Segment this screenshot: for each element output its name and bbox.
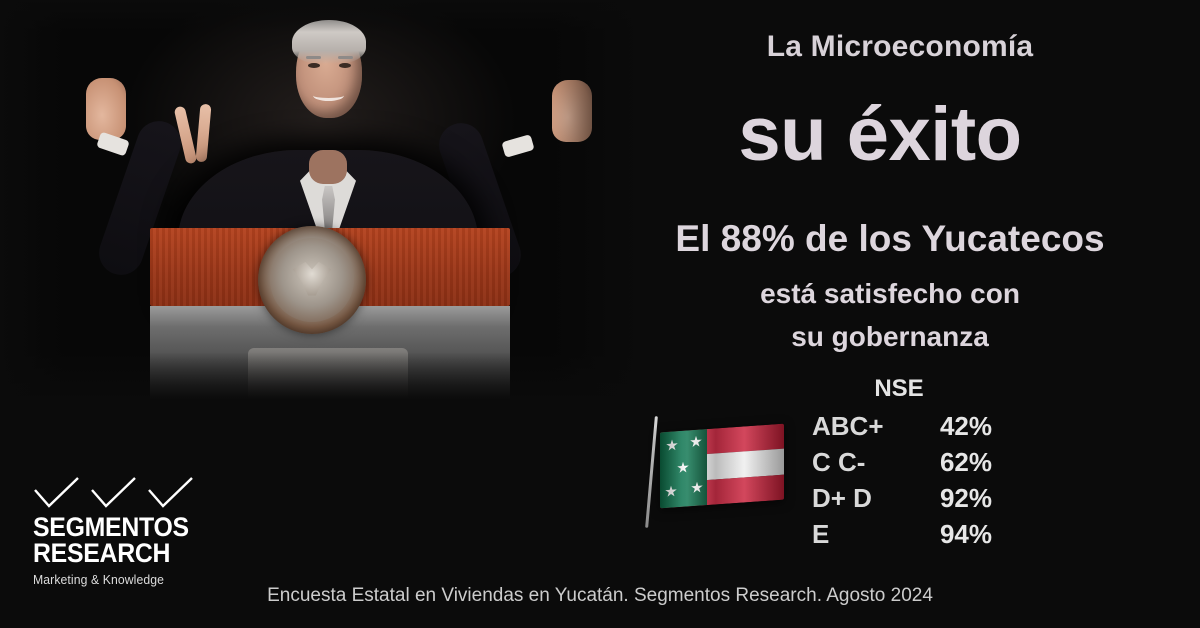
source-caption: Encuesta Estatal en Viviendas en Yucatán… — [0, 585, 1200, 607]
checkmark-icon — [147, 476, 202, 510]
flag-pole — [645, 416, 658, 528]
flag-star — [690, 435, 702, 448]
table-row: D+ D 92% — [812, 483, 992, 514]
nse-row-label: ABC+ — [812, 411, 884, 442]
flag-star — [691, 481, 703, 494]
flag-star — [665, 485, 677, 498]
right-eyebrow — [338, 56, 353, 59]
logo-name-line-1: SEGMENTOS — [33, 514, 189, 540]
left-peace-sign-hand — [86, 78, 126, 140]
stat-main-text: El 88% de los Yucatecos — [620, 218, 1160, 260]
segmentos-research-logo: SEGMENTOS RESEARCH Marketing & Knowledge — [33, 476, 203, 587]
nse-row-label: D+ D — [812, 483, 872, 514]
page-title: su éxito — [620, 95, 1140, 175]
flag-star — [666, 439, 678, 452]
president-at-podium-photo — [0, 0, 640, 400]
flag-green-canton — [660, 429, 707, 508]
table-row: C C- 62% — [812, 447, 992, 478]
nse-row-value: 62% — [940, 447, 992, 478]
nse-row-value: 42% — [940, 411, 992, 442]
right-peace-sign-hand — [552, 80, 592, 142]
nse-row-label: C C- — [812, 447, 865, 478]
checkmark-icon — [33, 476, 88, 510]
smiling-mouth — [313, 90, 344, 101]
hair — [292, 20, 366, 64]
neck — [309, 150, 347, 184]
stat-sub-text: está satisfecho con su gobernanza — [620, 272, 1160, 359]
checkmark-icon — [90, 476, 145, 510]
stat-sub-line-1: está satisfecho con — [620, 272, 1160, 315]
right-eye — [339, 63, 351, 68]
podium-glass-panel — [248, 348, 408, 400]
nse-row-label: E — [812, 519, 829, 550]
nse-row-value: 92% — [940, 483, 992, 514]
flag-body — [660, 424, 784, 509]
checkmarks-icon — [33, 476, 203, 510]
left-eye — [308, 63, 320, 68]
stat-sub-line-2: su gobernanza — [620, 315, 1160, 358]
nse-row-value: 94% — [940, 519, 992, 550]
poster-canvas: La Microeconomía su éxito El 88% de los … — [0, 0, 1200, 628]
flag-star — [677, 461, 689, 474]
left-eyebrow — [306, 56, 321, 59]
mexican-national-seal-icon — [258, 226, 366, 334]
kicker-text: La Microeconomía — [640, 30, 1160, 64]
nse-table: NSE ABC+ 42% C C- 62% D+ D 92% E 94% — [812, 375, 992, 550]
table-row: E 94% — [812, 519, 992, 550]
yucatan-flag-icon — [640, 412, 800, 530]
nse-table-header: NSE — [812, 375, 992, 403]
table-row: ABC+ 42% — [812, 411, 992, 442]
logo-name-line-2: RESEARCH — [33, 540, 189, 566]
